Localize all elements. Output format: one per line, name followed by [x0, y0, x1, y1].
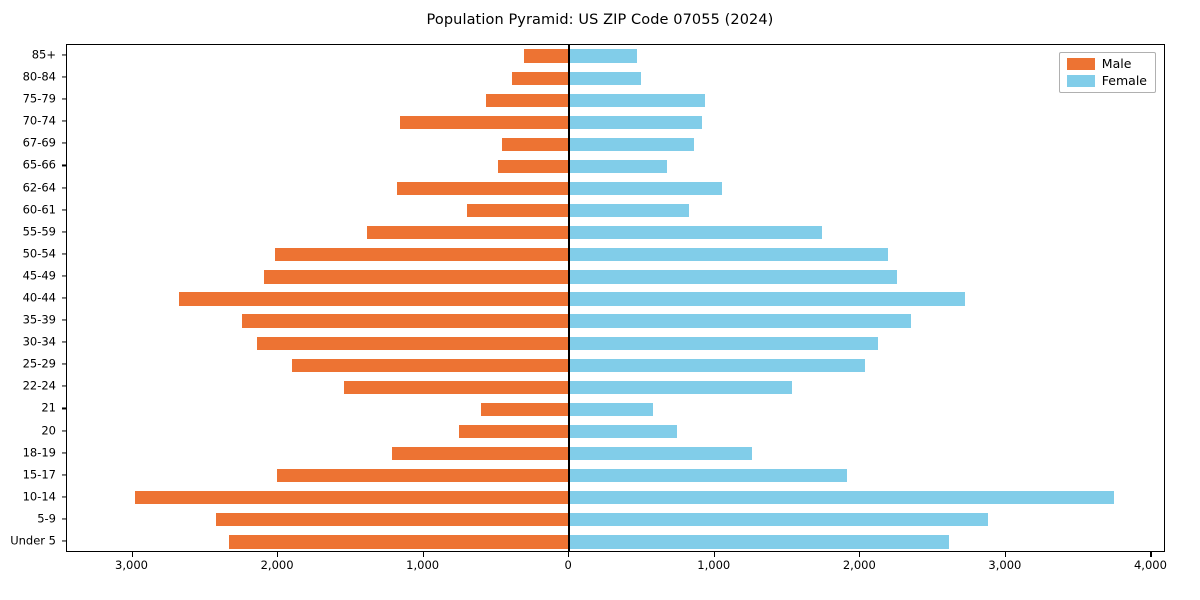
bar-male [242, 314, 569, 327]
bar-male [344, 381, 569, 394]
bar-row [67, 94, 1164, 107]
y-tick-label: Under 5 [10, 535, 56, 547]
x-tick-mark [859, 552, 860, 557]
y-tick-label: 70-74 [23, 116, 56, 128]
bar-female [569, 469, 847, 482]
y-tick-label: 75-79 [23, 93, 56, 105]
bar-female [569, 204, 688, 217]
bar-male [367, 226, 569, 239]
bar-male [397, 182, 569, 195]
x-tick-mark [1150, 552, 1151, 557]
x-tick-mark [568, 552, 569, 557]
bar-female [569, 292, 965, 305]
x-tick-mark [132, 552, 133, 557]
legend: Male Female [1059, 52, 1156, 93]
bar-row [67, 270, 1164, 283]
legend-label-female: Female [1102, 75, 1147, 88]
bar-row [67, 469, 1164, 482]
bar-row [67, 226, 1164, 239]
bar-female [569, 513, 988, 526]
bar-row [67, 138, 1164, 151]
y-tick-label: 65-66 [23, 160, 56, 172]
bar-row [67, 248, 1164, 261]
bar-row [67, 49, 1164, 62]
y-tick-label: 60-61 [23, 204, 56, 216]
y-tick-label: 18-19 [23, 447, 56, 459]
y-tick-label: 30-34 [23, 336, 56, 348]
x-tick-mark [1005, 552, 1006, 557]
bar-female [569, 337, 878, 350]
bar-female [569, 226, 822, 239]
plot-area: Male Female [66, 44, 1165, 552]
bar-row [67, 447, 1164, 460]
y-tick-label: 21 [41, 403, 56, 415]
bar-female [569, 447, 752, 460]
y-tick-label: 10-14 [23, 491, 56, 503]
bar-row [67, 359, 1164, 372]
bar-female [569, 425, 677, 438]
x-tick-label: 3,000 [988, 560, 1021, 572]
y-tick-label: 50-54 [23, 248, 56, 260]
bar-male [512, 72, 569, 85]
y-axis: 85+80-8475-7970-7467-6965-6662-6460-6155… [0, 44, 66, 552]
x-tick-label: 3,000 [115, 560, 148, 572]
bar-female [569, 94, 705, 107]
y-tick-label: 22-24 [23, 381, 56, 393]
x-tick-mark [714, 552, 715, 557]
legend-item-male[interactable]: Male [1067, 58, 1147, 71]
x-tick-label: 2,000 [843, 560, 876, 572]
bar-male [277, 469, 569, 482]
bar-female [569, 49, 637, 62]
bar-male [179, 292, 569, 305]
bar-male [459, 425, 570, 438]
bar-male [467, 204, 569, 217]
bar-male [524, 49, 569, 62]
legend-swatch-female-icon [1067, 75, 1095, 87]
bar-row [67, 116, 1164, 129]
y-tick-label: 67-69 [23, 138, 56, 150]
bar-female [569, 248, 888, 261]
y-tick-label: 45-49 [23, 270, 56, 282]
bar-female [569, 314, 911, 327]
bar-row [67, 425, 1164, 438]
x-tick-mark [423, 552, 424, 557]
population-pyramid-figure: Population Pyramid: US ZIP Code 07055 (2… [0, 0, 1200, 600]
y-tick-label: 40-44 [23, 292, 56, 304]
bar-male [498, 160, 569, 173]
x-tick-label: 4,000 [1134, 560, 1167, 572]
bar-row [67, 160, 1164, 173]
bar-row [67, 337, 1164, 350]
bar-female [569, 138, 694, 151]
bar-male [400, 116, 569, 129]
x-tick-label: 1,000 [406, 560, 439, 572]
bar-male [275, 248, 569, 261]
bar-male [257, 337, 569, 350]
bar-row [67, 292, 1164, 305]
bar-row [67, 381, 1164, 394]
chart-title: Population Pyramid: US ZIP Code 07055 (2… [0, 12, 1200, 28]
bar-female [569, 270, 897, 283]
bar-female [569, 403, 653, 416]
y-tick-label: 35-39 [23, 314, 56, 326]
bar-female [569, 182, 722, 195]
bar-row [67, 535, 1164, 548]
bar-female [569, 535, 949, 548]
bar-female [569, 381, 792, 394]
legend-swatch-male-icon [1067, 58, 1095, 70]
y-tick-label: 80-84 [23, 71, 56, 83]
zero-axis-line [568, 45, 570, 551]
bar-row [67, 182, 1164, 195]
y-tick-label: 15-17 [23, 469, 56, 481]
bar-male [502, 138, 569, 151]
bars-layer [67, 45, 1164, 551]
bar-male [229, 535, 570, 548]
bar-row [67, 314, 1164, 327]
legend-label-male: Male [1102, 58, 1132, 71]
bar-row [67, 204, 1164, 217]
bar-female [569, 359, 865, 372]
bar-male [486, 94, 569, 107]
bar-row [67, 403, 1164, 416]
bar-male [135, 491, 570, 504]
y-tick-label: 62-64 [23, 182, 56, 194]
bar-row [67, 72, 1164, 85]
bar-male [292, 359, 569, 372]
x-tick-label: 1,000 [697, 560, 730, 572]
x-axis: 3,0002,0001,00001,0002,0003,0004,000 [66, 552, 1165, 592]
bar-female [569, 491, 1113, 504]
y-tick-label: 85+ [32, 49, 56, 61]
y-tick-label: 55-59 [23, 226, 56, 238]
bar-row [67, 513, 1164, 526]
bar-female [569, 116, 701, 129]
bar-female [569, 72, 640, 85]
bar-male [392, 447, 570, 460]
bar-row [67, 491, 1164, 504]
x-tick-label: 0 [565, 560, 572, 572]
legend-item-female[interactable]: Female [1067, 75, 1147, 88]
bar-male [216, 513, 569, 526]
y-tick-label: 25-29 [23, 359, 56, 371]
x-tick-mark [277, 552, 278, 557]
bar-female [569, 160, 667, 173]
x-tick-label: 2,000 [261, 560, 294, 572]
bar-male [481, 403, 569, 416]
y-tick-label: 20 [41, 425, 56, 437]
bar-male [264, 270, 570, 283]
y-tick-label: 5-9 [37, 513, 56, 525]
